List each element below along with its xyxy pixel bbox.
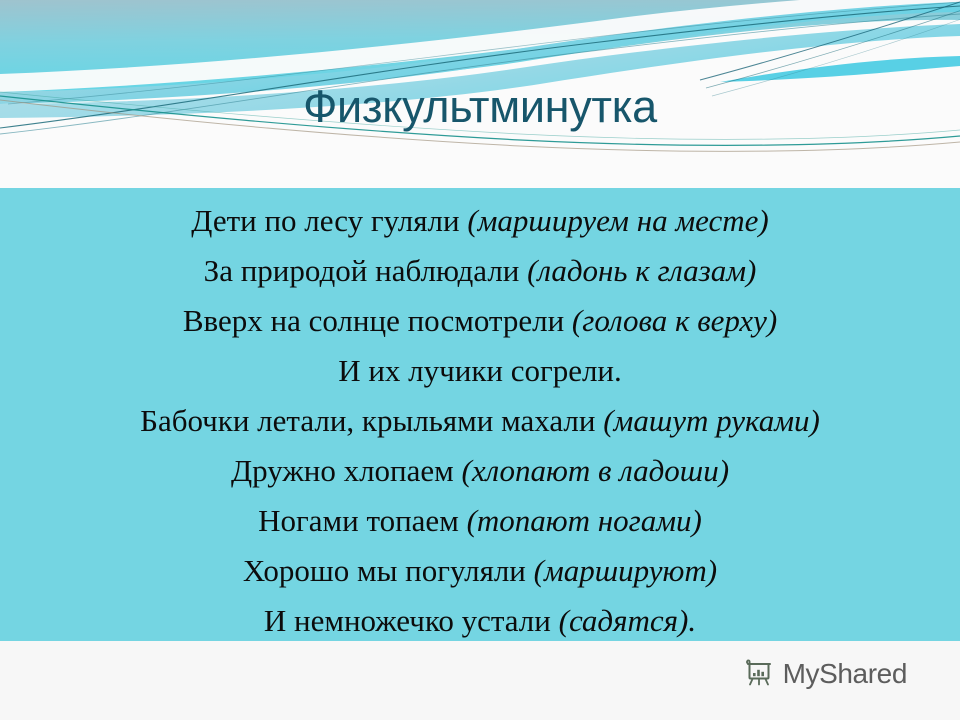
verse-line-text: Вверх на солнце посмотрели: [183, 303, 572, 338]
verse-line-text: Бабочки летали, крыльями махали: [140, 403, 603, 438]
myshared-label: MyShared: [783, 660, 907, 688]
slide-title: Физкультминутка: [0, 79, 960, 135]
verse-line-cue: (топают ногами): [467, 503, 702, 538]
verse-line: Дети по лесу гуляли (маршируем на месте): [0, 196, 960, 246]
verse-line: За природой наблюдали (ладонь к глазам): [0, 246, 960, 296]
verse-line-cue: (машут руками): [603, 403, 820, 438]
verse-line-text: Хорошо мы погуляли: [243, 553, 534, 588]
verse-line: Вверх на солнце посмотрели (голова к вер…: [0, 296, 960, 346]
verse-line-text: И их лучики согрели.: [338, 353, 622, 388]
verse-line-cue: (маршируем на месте): [467, 203, 768, 238]
verse-line: Бабочки летали, крыльями махали (машут р…: [0, 396, 960, 446]
verse-line-cue: (хлопают в ладоши): [462, 453, 729, 488]
verse-line-text: Ногами топаем: [258, 503, 466, 538]
verse-line: И их лучики согрели.: [0, 346, 960, 396]
verse-line-cue: (ладонь к глазам): [527, 253, 756, 288]
presentation-slide: Физкультминутка Дети по лесу гуляли (мар…: [0, 0, 960, 720]
slide-footer: MyShared: [0, 641, 960, 720]
verse-line-text: За природой наблюдали: [204, 253, 527, 288]
flipchart-chart-icon: [742, 657, 776, 691]
verse-line-cue: (маршируют): [534, 553, 717, 588]
verse-line-text: И немножечко устали: [264, 603, 559, 638]
verse-line: И немножечко устали (садятся).: [0, 596, 960, 646]
myshared-watermark: MyShared: [742, 657, 907, 691]
verse-line: Дружно хлопаем (хлопают в ладоши): [0, 446, 960, 496]
verse-line-cue: (садятся).: [559, 603, 697, 638]
verse-line: Ногами топаем (топают ногами): [0, 496, 960, 546]
verse-line-text: Дружно хлопаем: [231, 453, 462, 488]
verse-line-text: Дети по лесу гуляли: [191, 203, 467, 238]
verse-line: Хорошо мы погуляли (маршируют): [0, 546, 960, 596]
verse-line-cue: (голова к верху): [572, 303, 777, 338]
verse-panel: Дети по лесу гуляли (маршируем на месте)…: [0, 188, 960, 641]
